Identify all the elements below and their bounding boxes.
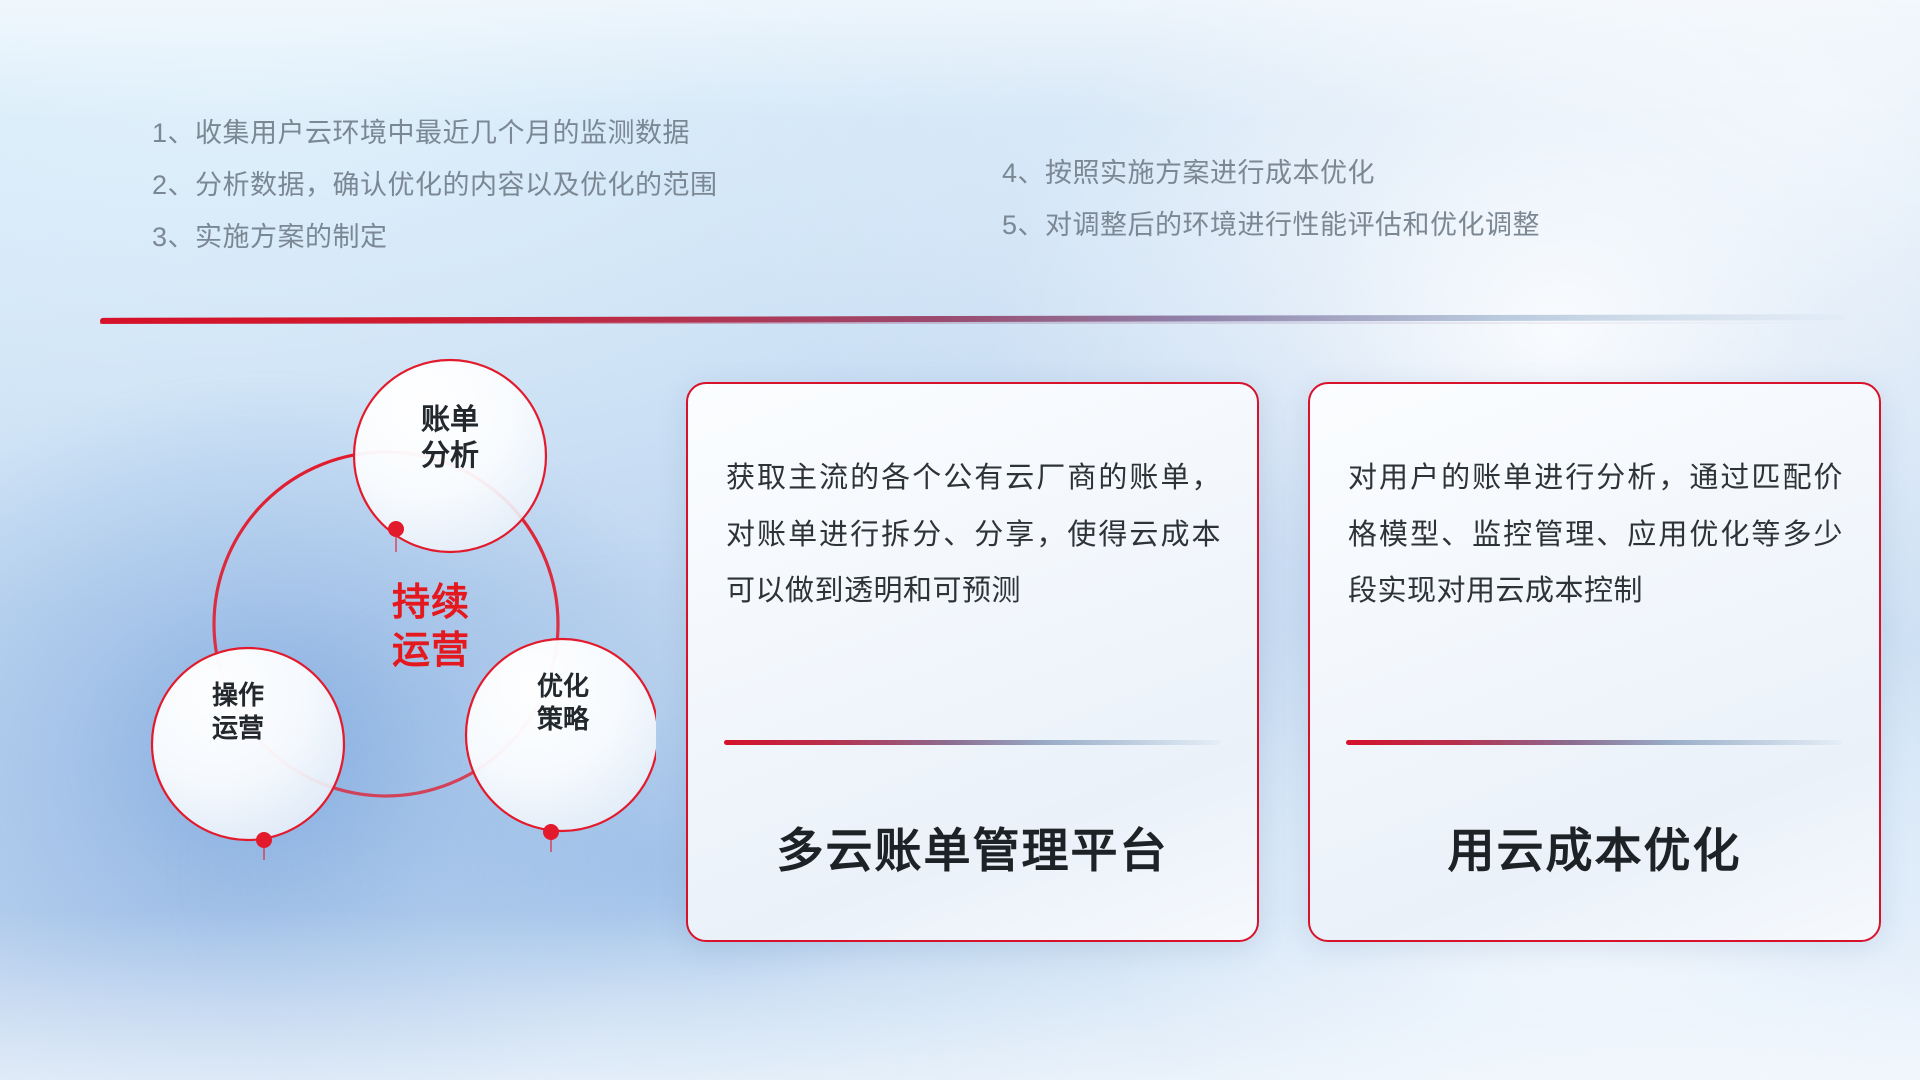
steps-list-left: 1、收集用户云环境中最近几个月的监测数据 2、分析数据，确认优化的内容以及优化的… bbox=[152, 120, 718, 251]
slide-canvas: 1、收集用户云环境中最近几个月的监测数据 2、分析数据，确认优化的内容以及优化的… bbox=[0, 0, 1920, 1080]
info-card-body: 对用户的账单进行分析，通过匹配价格模型、监控管理、应用优化等多少段实现对用云成本… bbox=[1348, 450, 1843, 620]
info-card-rule bbox=[1346, 740, 1843, 745]
step-item-3: 3、实施方案的制定 bbox=[152, 224, 718, 251]
venn-diagram-svg bbox=[96, 352, 656, 942]
steps-list-right: 4、按照实施方案进行成本优化 5、对调整后的环境进行性能评估和优化调整 bbox=[1002, 160, 1540, 239]
venn-bubble-bottom-right bbox=[466, 639, 656, 831]
info-card-title: 多云账单管理平台 bbox=[688, 812, 1257, 881]
info-card-cloud-cost-optimization[interactable]: 对用户的账单进行分析，通过匹配价格模型、监控管理、应用优化等多少段实现对用云成本… bbox=[1308, 382, 1881, 942]
info-card-title: 用云成本优化 bbox=[1310, 812, 1879, 881]
venn-bubble-top bbox=[354, 360, 546, 552]
info-card-body: 获取主流的各个公有云厂商的账单，对账单进行拆分、分享，使得云成本可以做到透明和可… bbox=[726, 450, 1221, 620]
step-item-5: 5、对调整后的环境进行性能评估和优化调整 bbox=[1002, 212, 1540, 239]
section-divider-shadow bbox=[100, 322, 1845, 324]
step-item-2: 2、分析数据，确认优化的内容以及优化的范围 bbox=[152, 172, 718, 199]
info-card-multicloud-billing[interactable]: 获取主流的各个公有云厂商的账单，对账单进行拆分、分享，使得云成本可以做到透明和可… bbox=[686, 382, 1259, 942]
background-top-sheen bbox=[0, 0, 1920, 120]
info-card-rule bbox=[724, 740, 1221, 745]
venn-diagram: 账单 分析 持续 运营 操作 运营 优化 策略 bbox=[96, 352, 656, 942]
step-item-4: 4、按照实施方案进行成本优化 bbox=[1002, 160, 1540, 187]
step-item-1: 1、收集用户云环境中最近几个月的监测数据 bbox=[152, 120, 718, 147]
venn-bubble-bottom-left bbox=[152, 648, 344, 840]
